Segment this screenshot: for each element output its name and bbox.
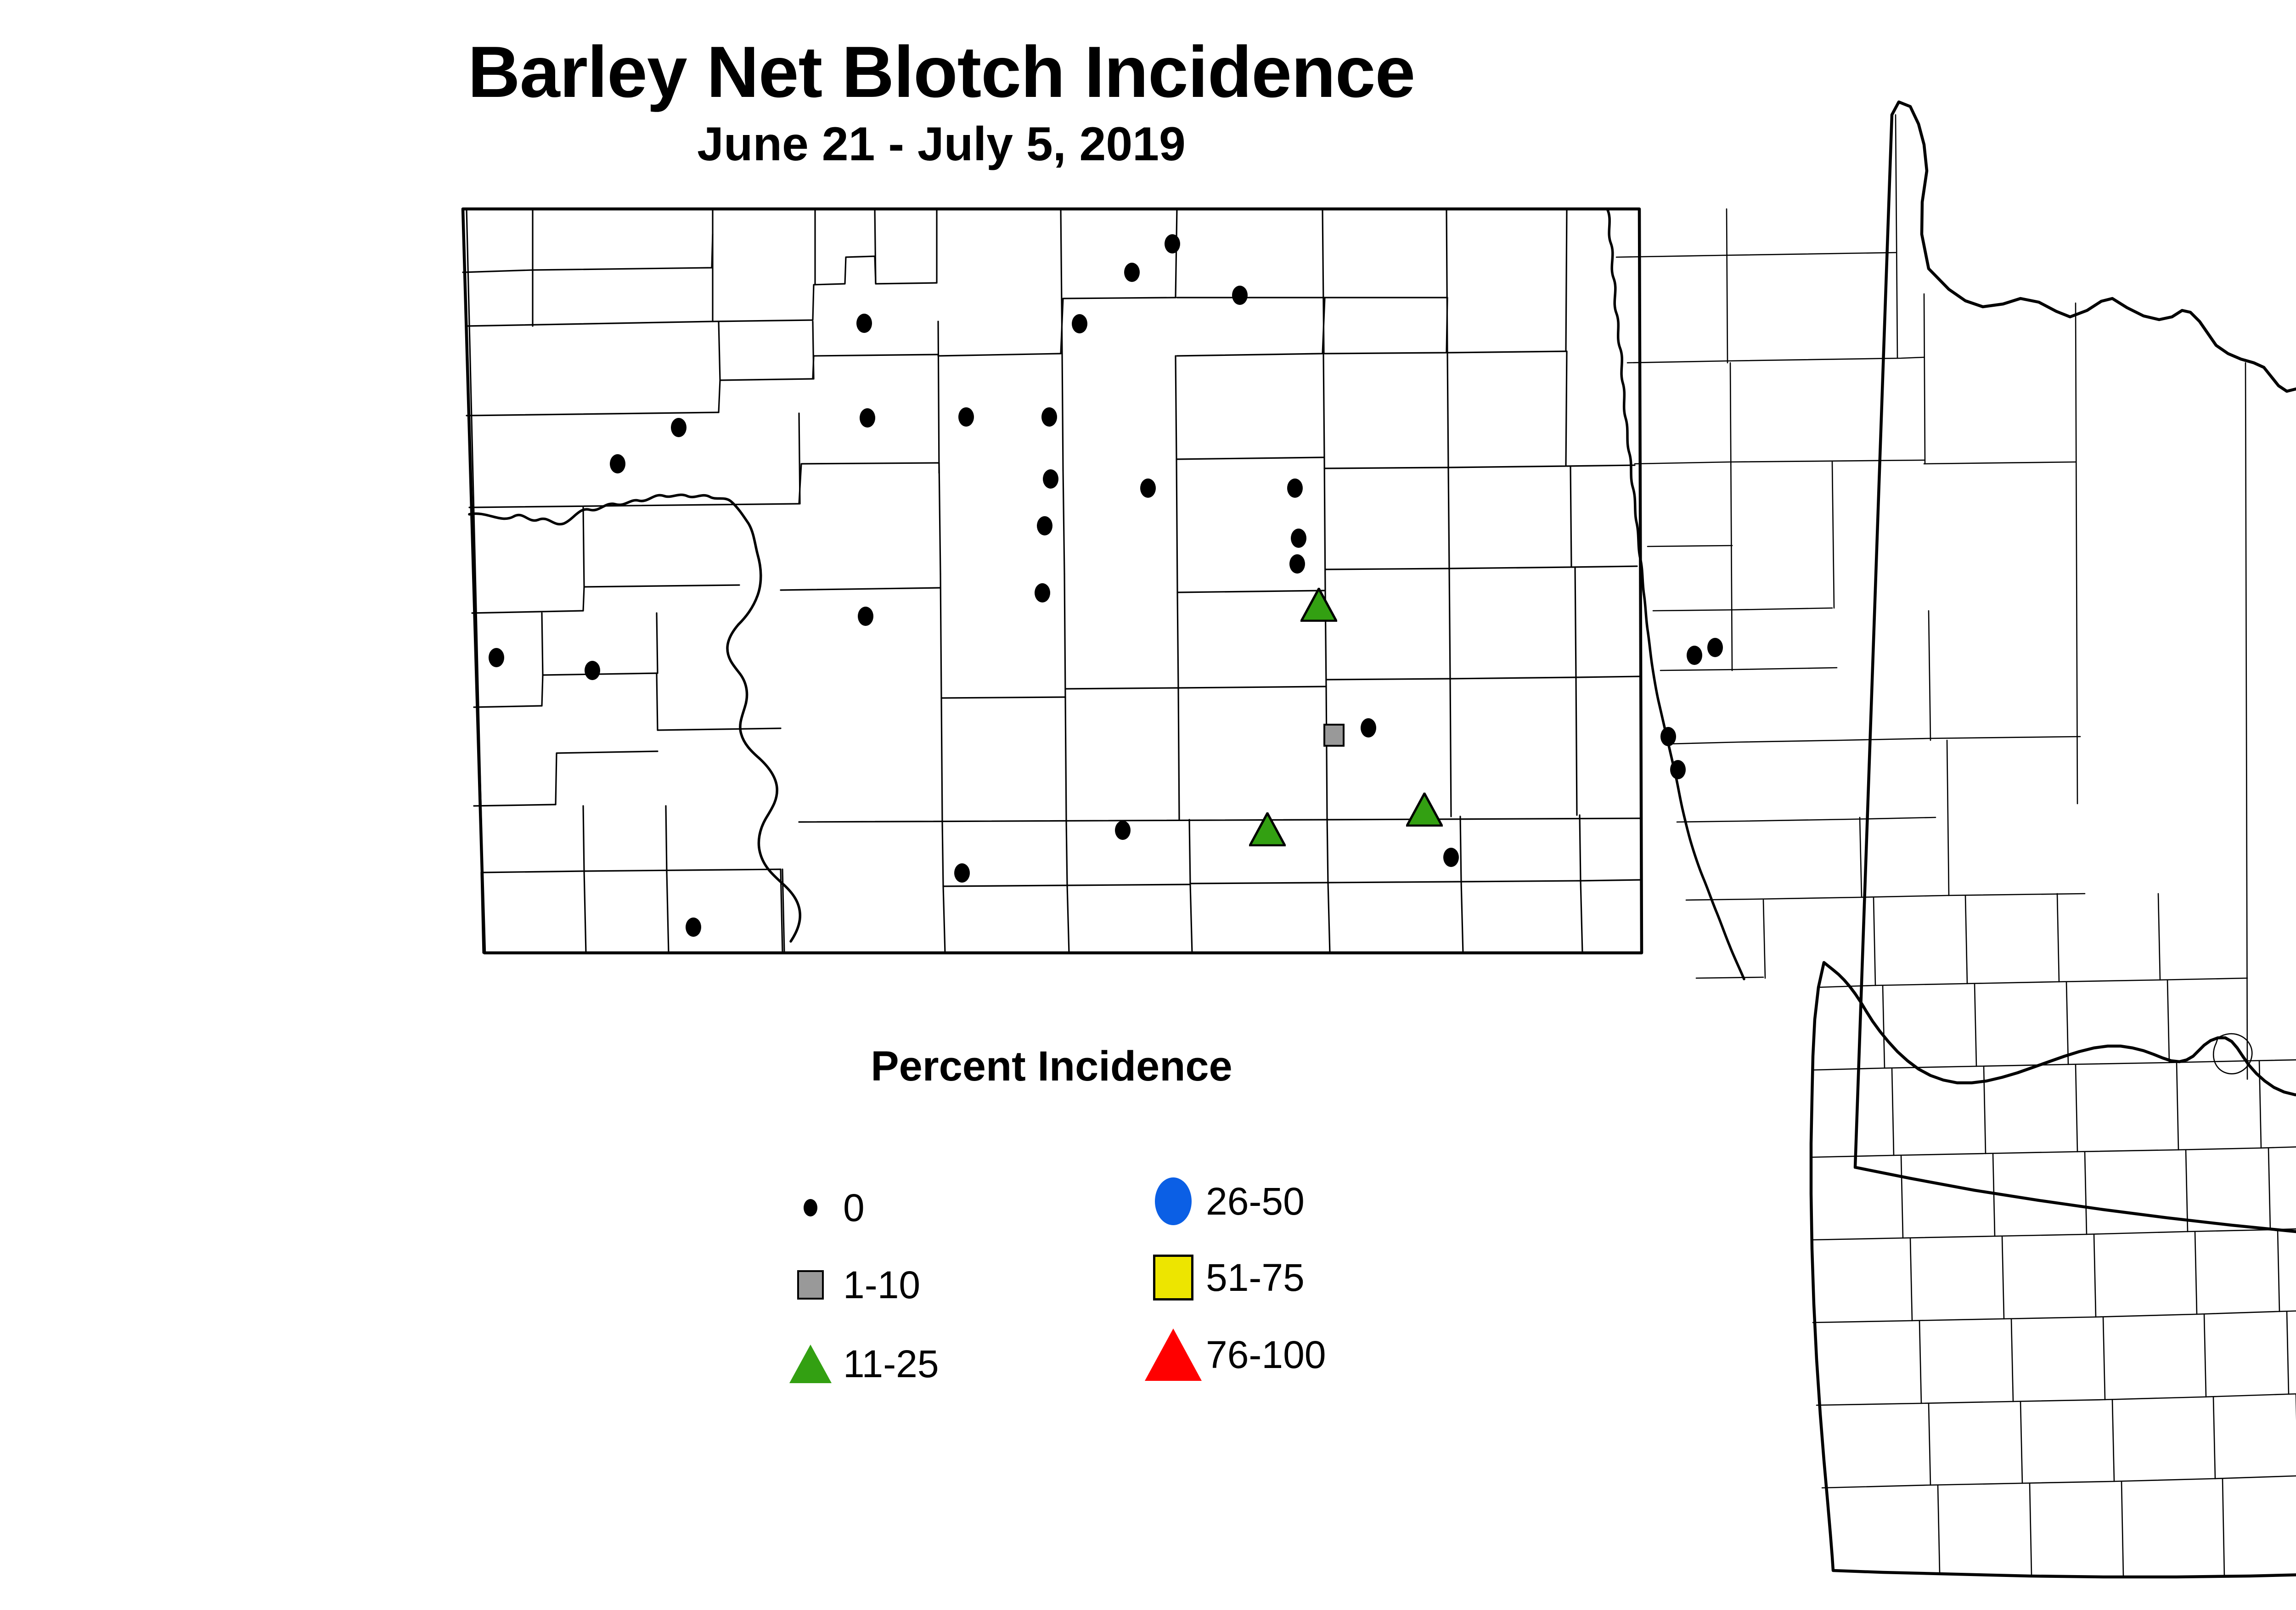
map-marker xyxy=(1670,760,1686,779)
north-dakota-outline xyxy=(463,209,1642,953)
red-river-border xyxy=(1607,209,1744,979)
map-marker xyxy=(489,648,504,667)
minnesota-outline xyxy=(1811,102,2296,1577)
legend-symbol-yellow-square-icon xyxy=(1143,1250,1203,1305)
map-marker xyxy=(856,314,872,333)
legend-label-1: 1-10 xyxy=(843,1263,920,1307)
legend-label-3: 26-50 xyxy=(1206,1179,1305,1224)
map-marker xyxy=(1115,821,1131,840)
map-marker xyxy=(1041,407,1057,427)
legend-item-4[interactable]: 51-75 xyxy=(1143,1250,1305,1305)
map-marker xyxy=(1707,638,1723,657)
map-marker xyxy=(1287,478,1303,498)
legend-label-5: 76-100 xyxy=(1206,1333,1326,1377)
legend-item-5[interactable]: 76-100 xyxy=(1143,1327,1326,1382)
legend-symbol-red-triangle-icon xyxy=(1143,1327,1203,1382)
legend-label-0: 0 xyxy=(843,1186,865,1230)
map-marker xyxy=(1232,286,1248,305)
map-marker xyxy=(1072,314,1087,333)
map-marker xyxy=(1140,478,1156,498)
map-marker xyxy=(858,607,873,626)
map-marker xyxy=(860,408,875,428)
map-marker xyxy=(1687,646,1702,665)
map-marker xyxy=(1124,263,1140,282)
map-figure: Barley Net Blotch Incidence June 21 - Ju… xyxy=(0,0,2296,1610)
map-marker xyxy=(1165,234,1180,253)
legend-item-3[interactable]: 26-50 xyxy=(1143,1174,1305,1229)
map-marker xyxy=(1361,718,1376,737)
map-marker xyxy=(1035,583,1050,602)
map-marker xyxy=(610,454,625,473)
map-marker xyxy=(585,661,600,680)
map-marker xyxy=(1037,516,1052,535)
legend-symbol-black-dot-icon xyxy=(781,1180,840,1235)
legend-title: Percent Incidence xyxy=(781,1042,1322,1091)
legend-label-4: 51-75 xyxy=(1206,1255,1305,1300)
legend-item-2[interactable]: 11-25 xyxy=(781,1336,939,1391)
mn-county-lines xyxy=(1616,115,2296,1577)
map-marker xyxy=(1300,588,1337,622)
legend-item-0[interactable]: 0 xyxy=(781,1180,865,1235)
legend-item-1[interactable]: 1-10 xyxy=(781,1257,920,1312)
map-marker xyxy=(1291,529,1306,548)
legend-label-2: 11-25 xyxy=(843,1342,939,1386)
legend-symbol-gray-square-icon xyxy=(781,1257,840,1312)
map-marker xyxy=(954,863,970,883)
map-marker xyxy=(1289,554,1305,574)
map-marker xyxy=(1323,724,1345,747)
nd-county-lines xyxy=(463,209,1642,953)
legend-symbol-green-triangle-icon xyxy=(781,1336,840,1391)
map-marker xyxy=(958,407,974,427)
map-marker xyxy=(1443,848,1459,867)
map-marker xyxy=(686,918,701,937)
legend-symbol-blue-circle-icon xyxy=(1143,1174,1203,1229)
map-marker xyxy=(671,418,687,437)
map-marker xyxy=(1249,812,1286,846)
legend: Percent Incidence 0 1-10 11-25 26-50 51-… xyxy=(781,1042,1515,1456)
map-marker xyxy=(1043,469,1058,489)
map-marker xyxy=(1406,793,1443,827)
map-marker xyxy=(1660,727,1676,746)
